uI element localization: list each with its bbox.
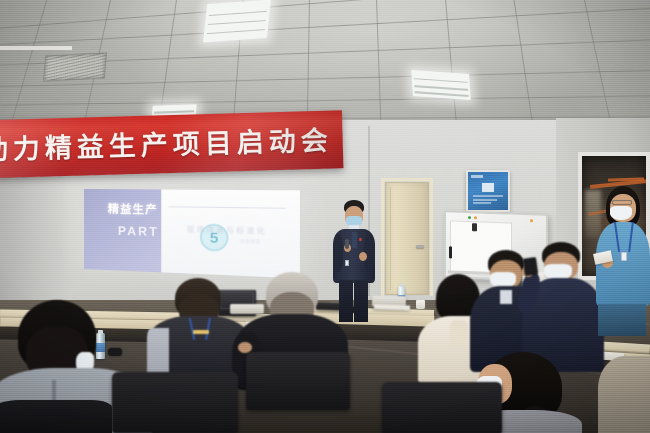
whiteboard-indicator-icon: [468, 216, 471, 219]
slide-subtitle: 现场改善与标准化: [187, 224, 267, 237]
staff-id-badge: [621, 252, 627, 261]
speaker-left-arm: [333, 234, 343, 272]
slide-part-label: PART: [118, 223, 159, 238]
slide-title: 精益生产: [108, 200, 158, 217]
poster-header-bar: [471, 175, 483, 178]
smartphone-camera[interactable]: [523, 257, 538, 276]
staff-lower-body: [598, 304, 646, 336]
poster-text-line: [473, 202, 491, 204]
slide-footnote: 持续改进: [240, 238, 261, 245]
person-staff-standing: [596, 186, 650, 334]
office-chair[interactable]: [382, 382, 502, 433]
wall-poster: [466, 170, 510, 212]
ceiling-light-panel: [411, 70, 471, 100]
speaker-right-hand: [359, 252, 367, 261]
woman-coat-collar: [450, 320, 468, 346]
poster-text-line: [473, 195, 503, 197]
whiteboard-marker-icon[interactable]: [449, 246, 452, 258]
person-foreground-shoulder: [598, 356, 650, 433]
whiteboard-indicator-icon: [474, 216, 477, 219]
office-chair[interactable]: [112, 372, 238, 433]
speaker-tie: [352, 232, 357, 248]
banner-text: 动力精益生产项目启动会: [0, 119, 333, 168]
speaker-lapel-pin: [359, 238, 362, 241]
eyeglasses-icon: [612, 200, 632, 205]
hvac-diffuser-icon: [43, 52, 107, 81]
office-chair[interactable]: [246, 352, 350, 410]
microphone-icon: [345, 239, 349, 249]
event-banner: 动力精益生产项目启动会: [0, 110, 343, 178]
poster-badge: [482, 183, 494, 191]
speaker-trouser-right: [354, 280, 368, 322]
window-mullion: [0, 46, 72, 50]
attendee-shirt-collar: [500, 290, 512, 304]
whiteboard-clip: [472, 223, 477, 231]
poster-text-line: [473, 199, 497, 201]
door-handle-icon[interactable]: [416, 245, 424, 248]
whiteboard-indicator-icon: [530, 219, 533, 222]
speaker-badge: [345, 260, 349, 266]
foreground-chair-silhouette: [0, 400, 112, 433]
attendee-collar-trim: [193, 330, 209, 334]
ceiling-light-panel: [203, 0, 271, 42]
meeting-room-photo: 动力精益生产项目启动会 精益生产 PART 5 现场改善与标准化 持续改进: [0, 0, 650, 433]
projection-screen: 精益生产 PART 5 现场改善与标准化 持续改进: [84, 189, 300, 278]
door-panel-seam: [390, 187, 391, 290]
staff-face-mask: [610, 206, 632, 220]
